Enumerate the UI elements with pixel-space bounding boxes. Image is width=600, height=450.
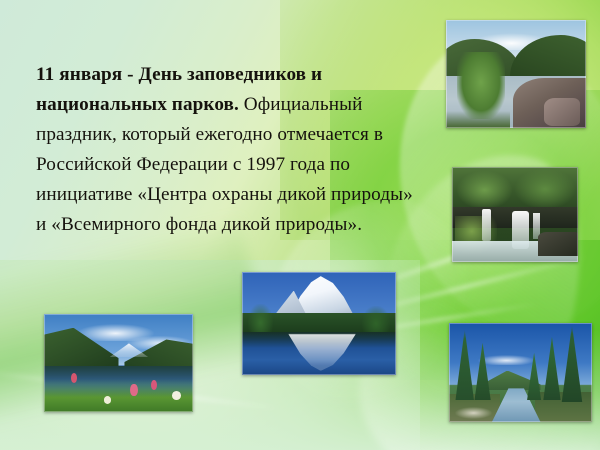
waterfall-cascade-1 [482,209,491,241]
lake-flower-4 [71,373,77,383]
lake-flower-1 [130,384,137,397]
mountain-tree-left [248,304,273,335]
waterfall-dark-rock [538,232,578,257]
photo-stream [449,323,592,422]
river-rock-detail [544,98,580,126]
slide-body-text: 11 января - День заповедников и национал… [36,60,422,240]
photo-river [446,20,586,128]
photo-waterfall [452,167,578,262]
lake-foreground-grass [44,379,193,412]
waterfall-foliage-left [457,171,512,209]
stream-stones [455,407,492,419]
stream-cloud [478,355,535,365]
mountain-tree-right [362,306,390,335]
photo-lake [44,314,193,412]
photo-mountain [242,272,396,375]
slide-body-regular: Официальный праздник, который ежегодно о… [36,94,413,235]
river-foreground-tree [457,52,505,119]
lake-flower-5 [104,396,111,404]
presentation-slide: 11 января - День заповедников и национал… [0,0,600,450]
waterfall-foliage-right [515,169,575,209]
